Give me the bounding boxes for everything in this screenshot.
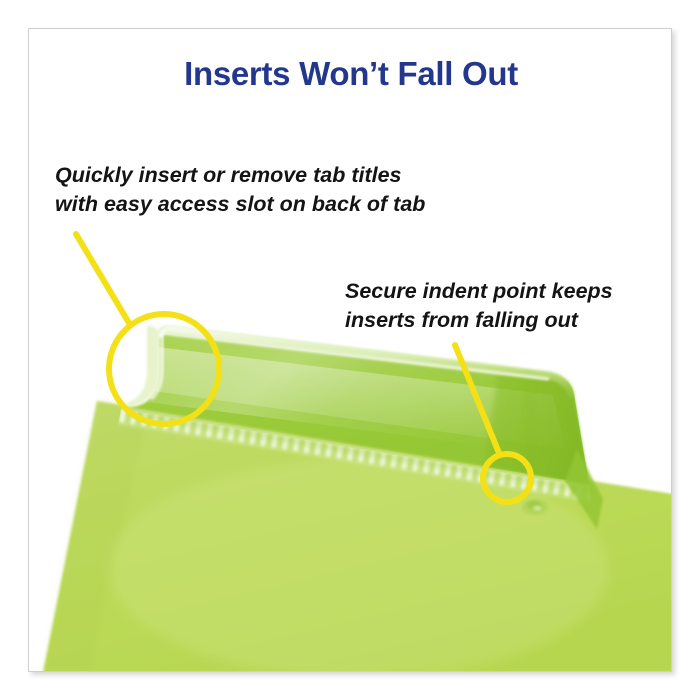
callout-left-line2: with easy access slot on back of tab — [55, 190, 425, 219]
callout-right: Secure indent point keeps inserts from f… — [345, 277, 613, 335]
product-photo-card: Inserts Won’t Fall Out Quickly insert or… — [28, 28, 672, 672]
screenshot-root: Inserts Won’t Fall Out Quickly insert or… — [0, 0, 700, 700]
product-photograph — [29, 29, 672, 672]
page-title: Inserts Won’t Fall Out — [29, 55, 672, 93]
callout-left: Quickly insert or remove tab titles with… — [55, 161, 425, 219]
callout-right-line2: inserts from falling out — [345, 306, 613, 335]
callout-right-line1: Secure indent point keeps — [345, 277, 613, 306]
callout-left-line1: Quickly insert or remove tab titles — [55, 161, 425, 190]
